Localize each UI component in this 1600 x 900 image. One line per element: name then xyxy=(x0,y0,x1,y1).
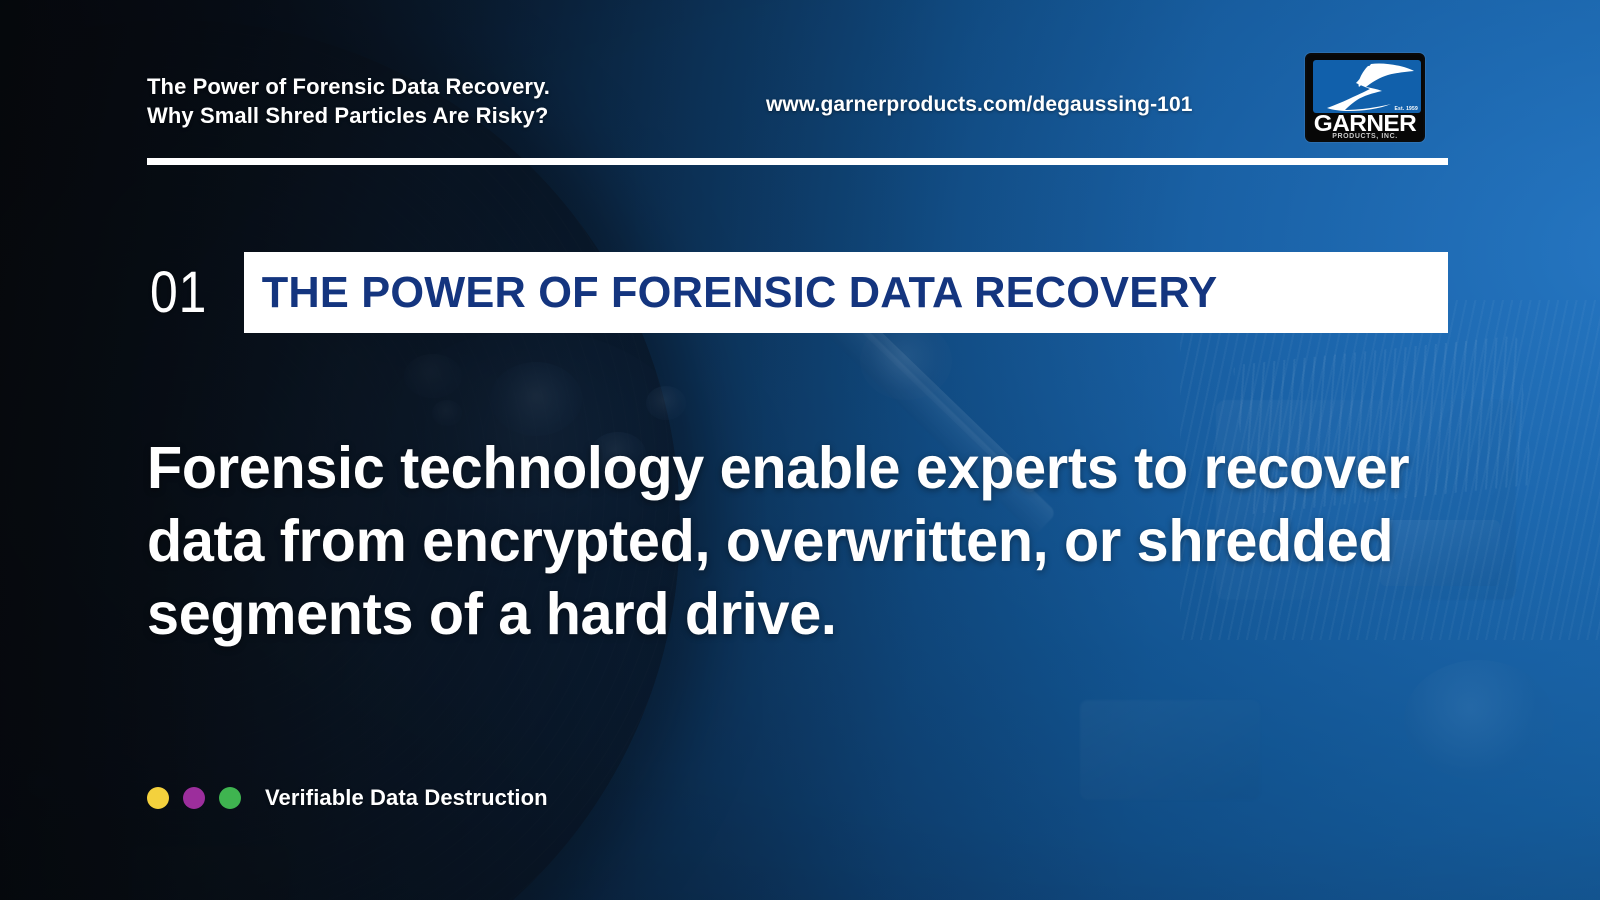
dot-yellow xyxy=(147,787,169,809)
header-title-line-1: The Power of Forensic Data Recovery. xyxy=(147,72,787,101)
header-url[interactable]: www.garnerproducts.com/degaussing-101 xyxy=(766,93,1193,117)
headline-bar: THE POWER OF FORENSIC DATA RECOVERY xyxy=(244,252,1448,333)
body-copy: Forensic technology enable experts to re… xyxy=(147,432,1434,651)
dot-purple xyxy=(183,787,205,809)
logo-brand-name: GARNER xyxy=(1305,112,1425,135)
logo-blue-panel: Est. 1959 xyxy=(1313,60,1421,113)
header-divider xyxy=(147,158,1448,165)
logo-subtitle: PRODUCTS, INC. xyxy=(1307,133,1423,140)
dot-green xyxy=(219,787,241,809)
garner-products-logo[interactable]: Est. 1959 GARNER PRODUCTS, INC. xyxy=(1305,53,1425,142)
footer-label: Verifiable Data Destruction xyxy=(265,785,548,811)
header-title-line-2: Why Small Shred Particles Are Risky? xyxy=(147,101,787,130)
footer: Verifiable Data Destruction xyxy=(147,785,548,811)
header-title: The Power of Forensic Data Recovery. Why… xyxy=(147,72,787,131)
slide-number: 01 xyxy=(150,259,207,326)
headline-text: THE POWER OF FORENSIC DATA RECOVERY xyxy=(244,268,1217,318)
slide-canvas: The Power of Forensic Data Recovery. Why… xyxy=(0,0,1600,900)
